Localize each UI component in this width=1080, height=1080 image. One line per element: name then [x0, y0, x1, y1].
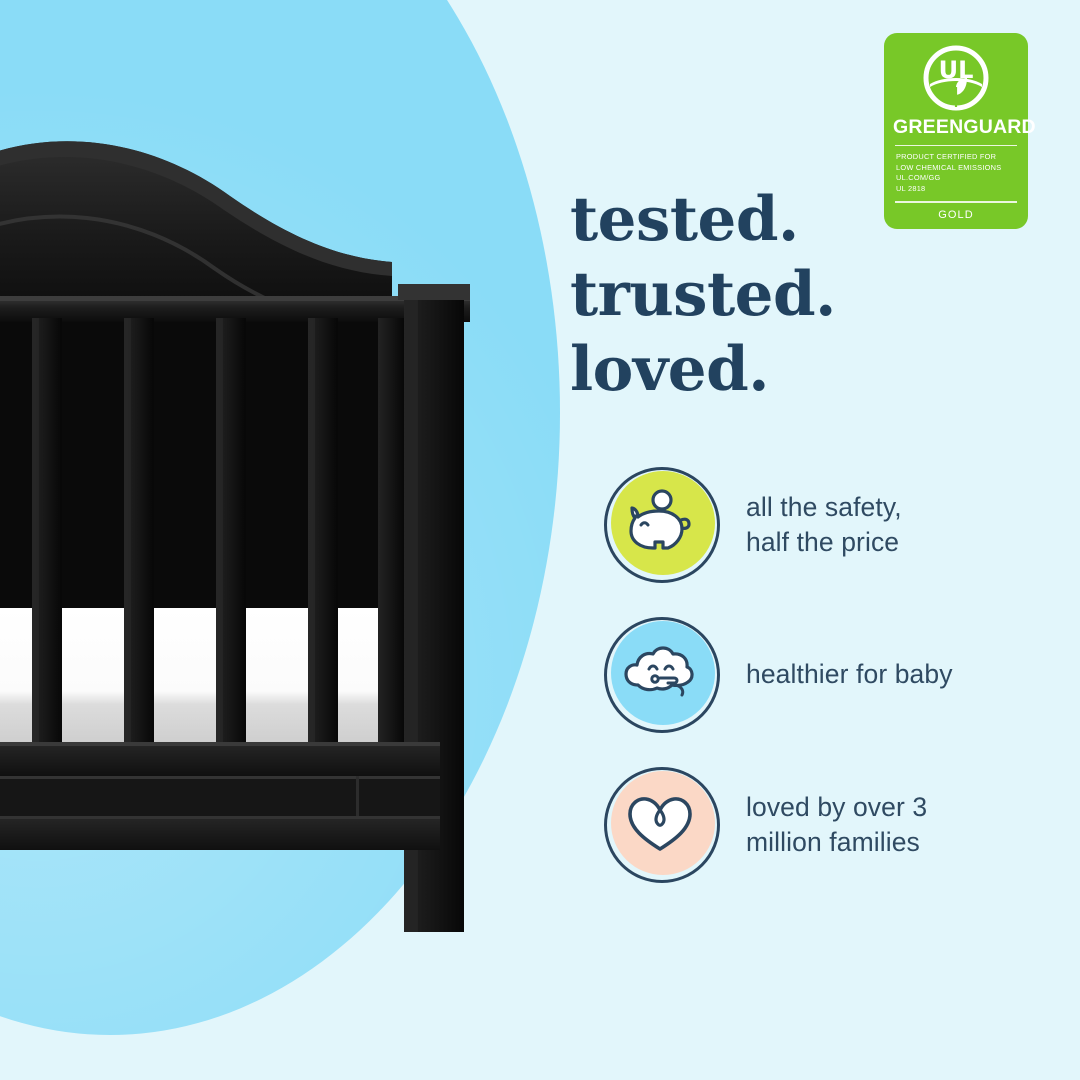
- feature-label-line-2: half the price: [746, 525, 902, 560]
- greenguard-certification-badge: UL GREENGUARD PRODUCT CERTIFIED FOR LOW …: [884, 33, 1028, 229]
- crib-product-photo: [0, 0, 500, 1080]
- feature-label-line-1: loved by over 3: [746, 790, 927, 825]
- badge-title: GREENGUARD: [893, 118, 1019, 138]
- ul-greenguard-leaf-icon: UL: [923, 45, 989, 111]
- piggy-bank-icon: [604, 467, 720, 583]
- feature-label-line-1: all the safety,: [746, 490, 902, 525]
- badge-divider: [895, 145, 1017, 147]
- headline-line-3: loved.: [570, 332, 836, 407]
- feature-label-line-1: healthier for baby: [746, 657, 953, 692]
- feature-item-loved: loved by over 3 million families: [604, 766, 1034, 884]
- cloud-breathing-icon: [604, 617, 720, 733]
- badge-divider-lower: [895, 201, 1017, 203]
- badge-line-2: LOW CHEMICAL EMISSIONS: [896, 163, 1019, 174]
- headline: tested. trusted. loved.: [570, 182, 836, 407]
- badge-line-4: UL 2818: [896, 184, 1019, 195]
- badge-level: GOLD: [893, 209, 1019, 221]
- feature-item-health: healthier for baby: [604, 616, 1034, 734]
- feature-label-line-2: million families: [746, 825, 927, 860]
- heart-knot-icon: [604, 767, 720, 883]
- feature-item-price: all the safety, half the price: [604, 466, 1034, 584]
- feature-label-loved: loved by over 3 million families: [746, 790, 927, 860]
- feature-label-health: healthier for baby: [746, 657, 953, 692]
- feature-label-price: all the safety, half the price: [746, 490, 902, 560]
- badge-line-1: PRODUCT CERTIFIED FOR: [896, 152, 1019, 163]
- headline-line-2: trusted.: [570, 257, 836, 332]
- badge-line-3: UL.COM/GG: [896, 173, 1019, 184]
- headline-line-1: tested.: [570, 182, 836, 257]
- feature-list: all the safety, half the price healthi: [604, 466, 1034, 884]
- promo-image: UL GREENGUARD PRODUCT CERTIFIED FOR LOW …: [0, 0, 1080, 1080]
